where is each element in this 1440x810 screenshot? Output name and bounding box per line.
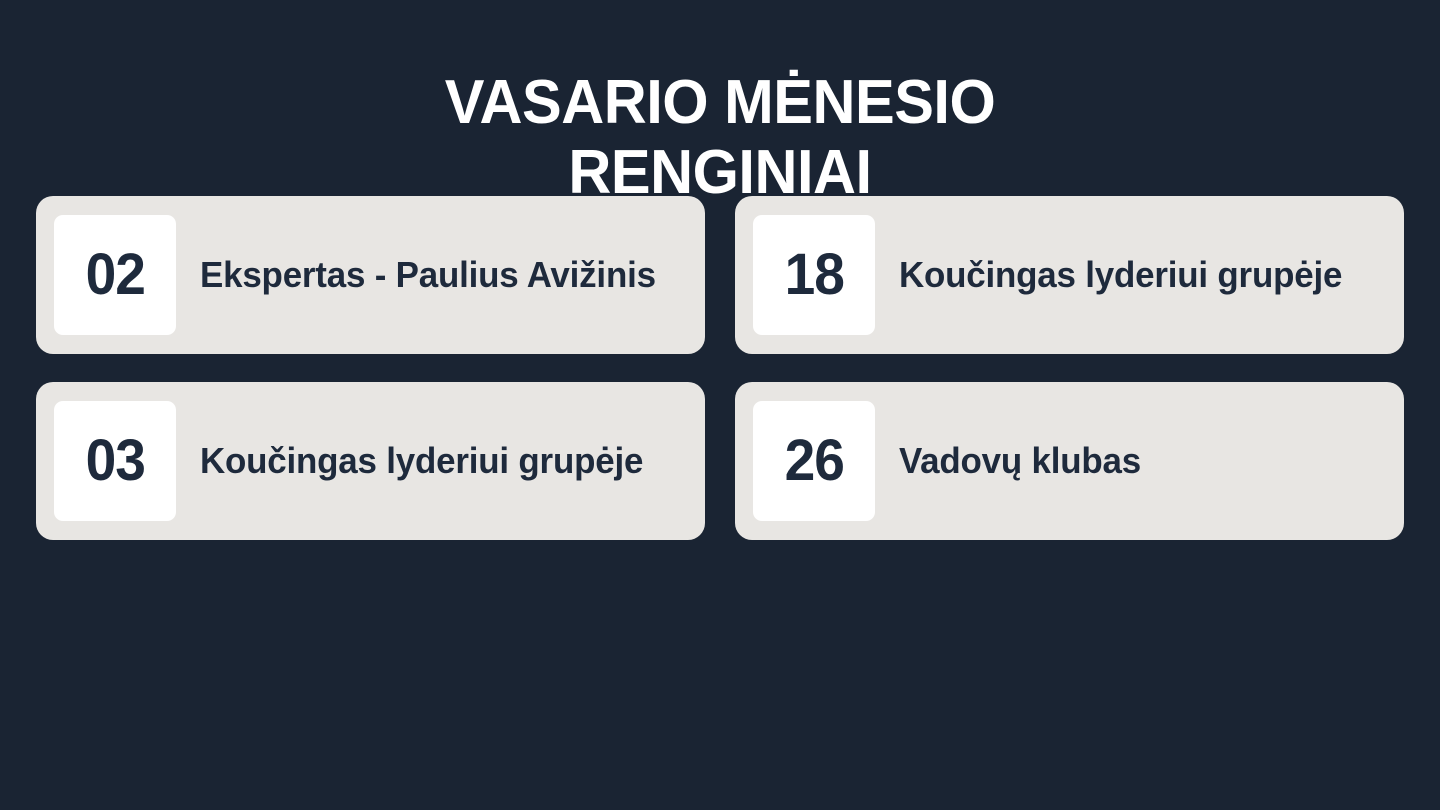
event-card[interactable]: 03 Koučingas lyderiui grupėje — [36, 382, 705, 540]
event-title: Vadovų klubas — [899, 439, 1389, 483]
event-calendar-slide: VASARIO MĖNESIO RENGINIAI 02 Ekspertas -… — [0, 0, 1440, 810]
event-day-tile: 26 — [753, 401, 875, 521]
event-day-number: 02 — [85, 246, 144, 304]
event-day-tile: 03 — [54, 401, 176, 521]
event-card[interactable]: 26 Vadovų klubas — [735, 382, 1404, 540]
event-day-number: 26 — [784, 432, 843, 490]
event-title: Koučingas lyderiui grupėje — [899, 253, 1389, 297]
page-title: VASARIO MĖNESIO RENGINIAI — [29, 68, 1411, 208]
event-day-number: 18 — [784, 246, 843, 304]
event-title: Koučingas lyderiui grupėje — [200, 439, 690, 483]
event-day-tile: 18 — [753, 215, 875, 335]
event-card[interactable]: 18 Koučingas lyderiui grupėje — [735, 196, 1404, 354]
event-title: Ekspertas - Paulius Avižinis — [200, 253, 690, 297]
event-day-tile: 02 — [54, 215, 176, 335]
event-card[interactable]: 02 Ekspertas - Paulius Avižinis — [36, 196, 705, 354]
events-grid: 02 Ekspertas - Paulius Avižinis 18 Kouči… — [36, 196, 1404, 540]
event-day-number: 03 — [85, 432, 144, 490]
